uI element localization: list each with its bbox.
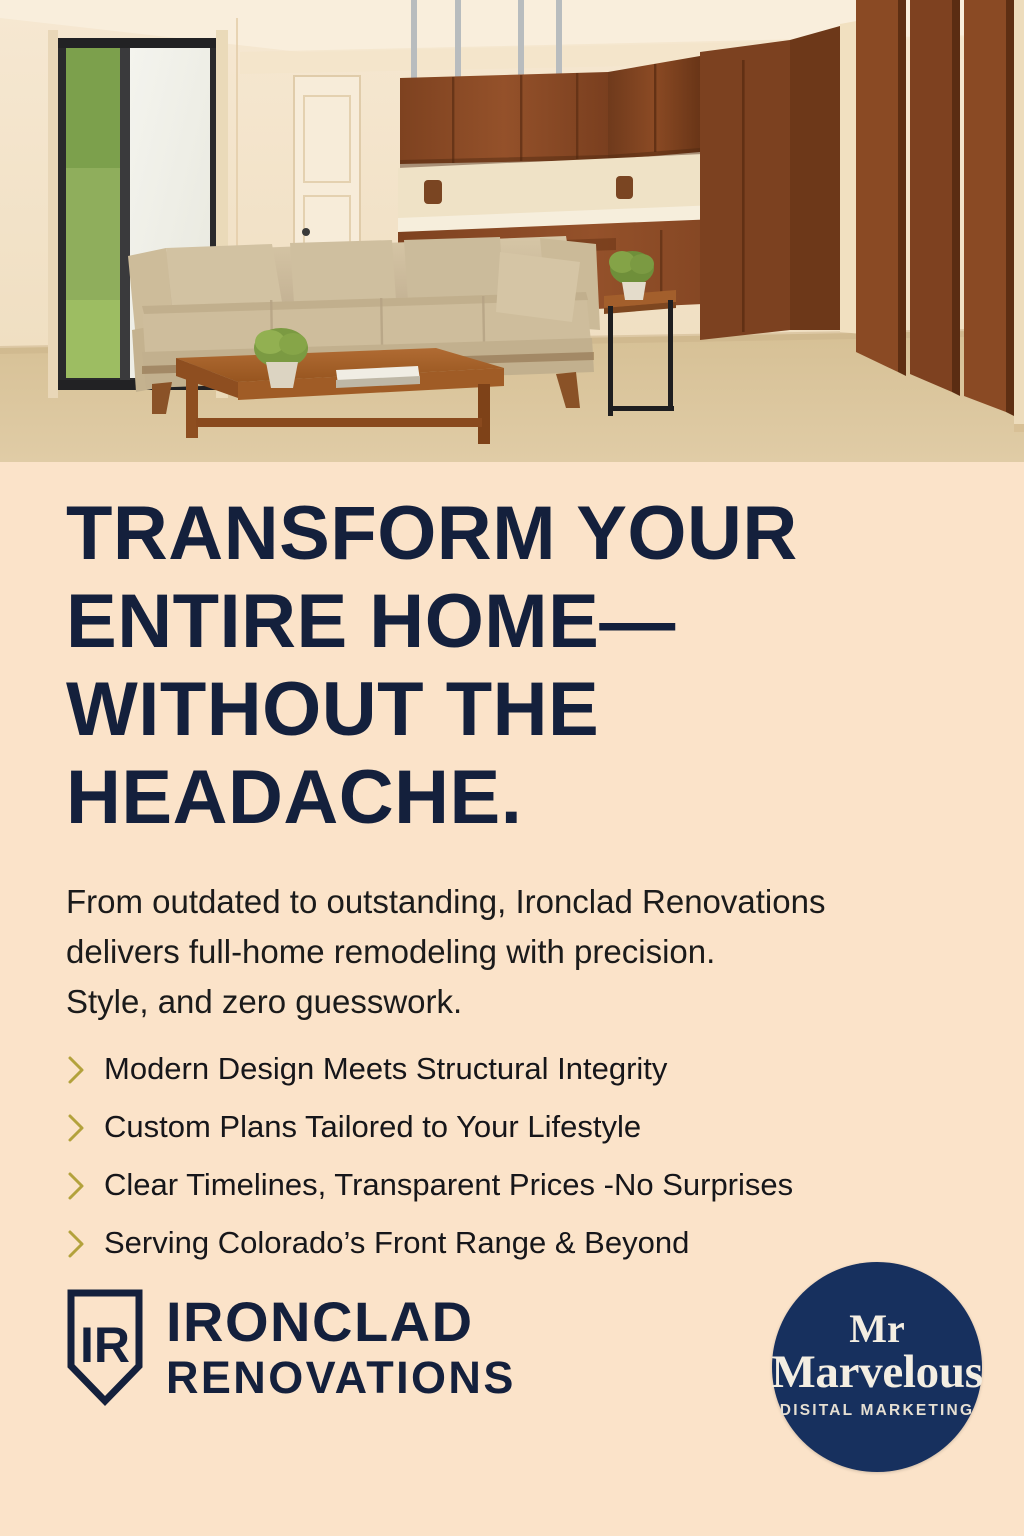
badge-tagline: DISITAL MARKETING (780, 1402, 974, 1420)
chevron-right-icon (62, 1227, 92, 1261)
headline-line-1: TRANSFORM YOUR (66, 490, 946, 578)
list-item: Serving Colorado’s Front Range & Beyond (62, 1214, 962, 1272)
feature-list: Modern Design Meets Structural Integrity… (62, 1040, 962, 1272)
list-item-label: Clear Timelines, Transparent Prices -No … (104, 1156, 793, 1214)
subcopy-line-2: delivers full-home remodeling with preci… (66, 927, 926, 977)
ironclad-logo: IR IRONCLAD RENOVATIONS (66, 1288, 516, 1408)
subcopy-line-1: From outdated to outstanding, Ironclad R… (66, 877, 926, 927)
ironclad-wordmark: IRONCLAD RENOVATIONS (166, 1293, 516, 1403)
hero-photo (0, 0, 1024, 462)
flyer-poster: TRANSFORM YOUR ENTIRE HOME— WITHOUT THE … (0, 0, 1024, 1536)
page-title: TRANSFORM YOUR ENTIRE HOME— WITHOUT THE … (66, 490, 946, 842)
list-item: Custom Plans Tailored to Your Lifestyle (62, 1098, 962, 1156)
subheadline-paragraph: From outdated to outstanding, Ironclad R… (66, 877, 926, 1027)
chevron-right-icon (62, 1111, 92, 1145)
svg-text:IR: IR (80, 1317, 130, 1373)
brand-name-secondary: RENOVATIONS (166, 1353, 516, 1403)
list-item-label: Serving Colorado’s Front Range & Beyond (104, 1214, 689, 1272)
badge-line-1: Mr (849, 1310, 905, 1348)
list-item-label: Modern Design Meets Structural Integrity (104, 1040, 667, 1098)
chevron-right-icon (62, 1053, 92, 1087)
subcopy-line-3: Style, and zero guesswork. (66, 977, 926, 1027)
list-item: Modern Design Meets Structural Integrity (62, 1040, 962, 1098)
list-item-label: Custom Plans Tailored to Your Lifestyle (104, 1098, 641, 1156)
headline-line-3: WITHOUT THE (66, 666, 946, 754)
headline-line-4: HEADACHE. (66, 754, 946, 842)
mr-marvelous-badge: Mr Marvelous DISITAL MARKETING (772, 1262, 982, 1472)
brand-name-primary: IRONCLAD (166, 1293, 516, 1351)
chevron-right-icon (62, 1169, 92, 1203)
list-item: Clear Timelines, Transparent Prices -No … (62, 1156, 962, 1214)
badge-line-2: Marvelous (771, 1348, 982, 1396)
shield-ir-monogram-icon: IR (66, 1288, 144, 1408)
headline-line-2: ENTIRE HOME— (66, 578, 946, 666)
